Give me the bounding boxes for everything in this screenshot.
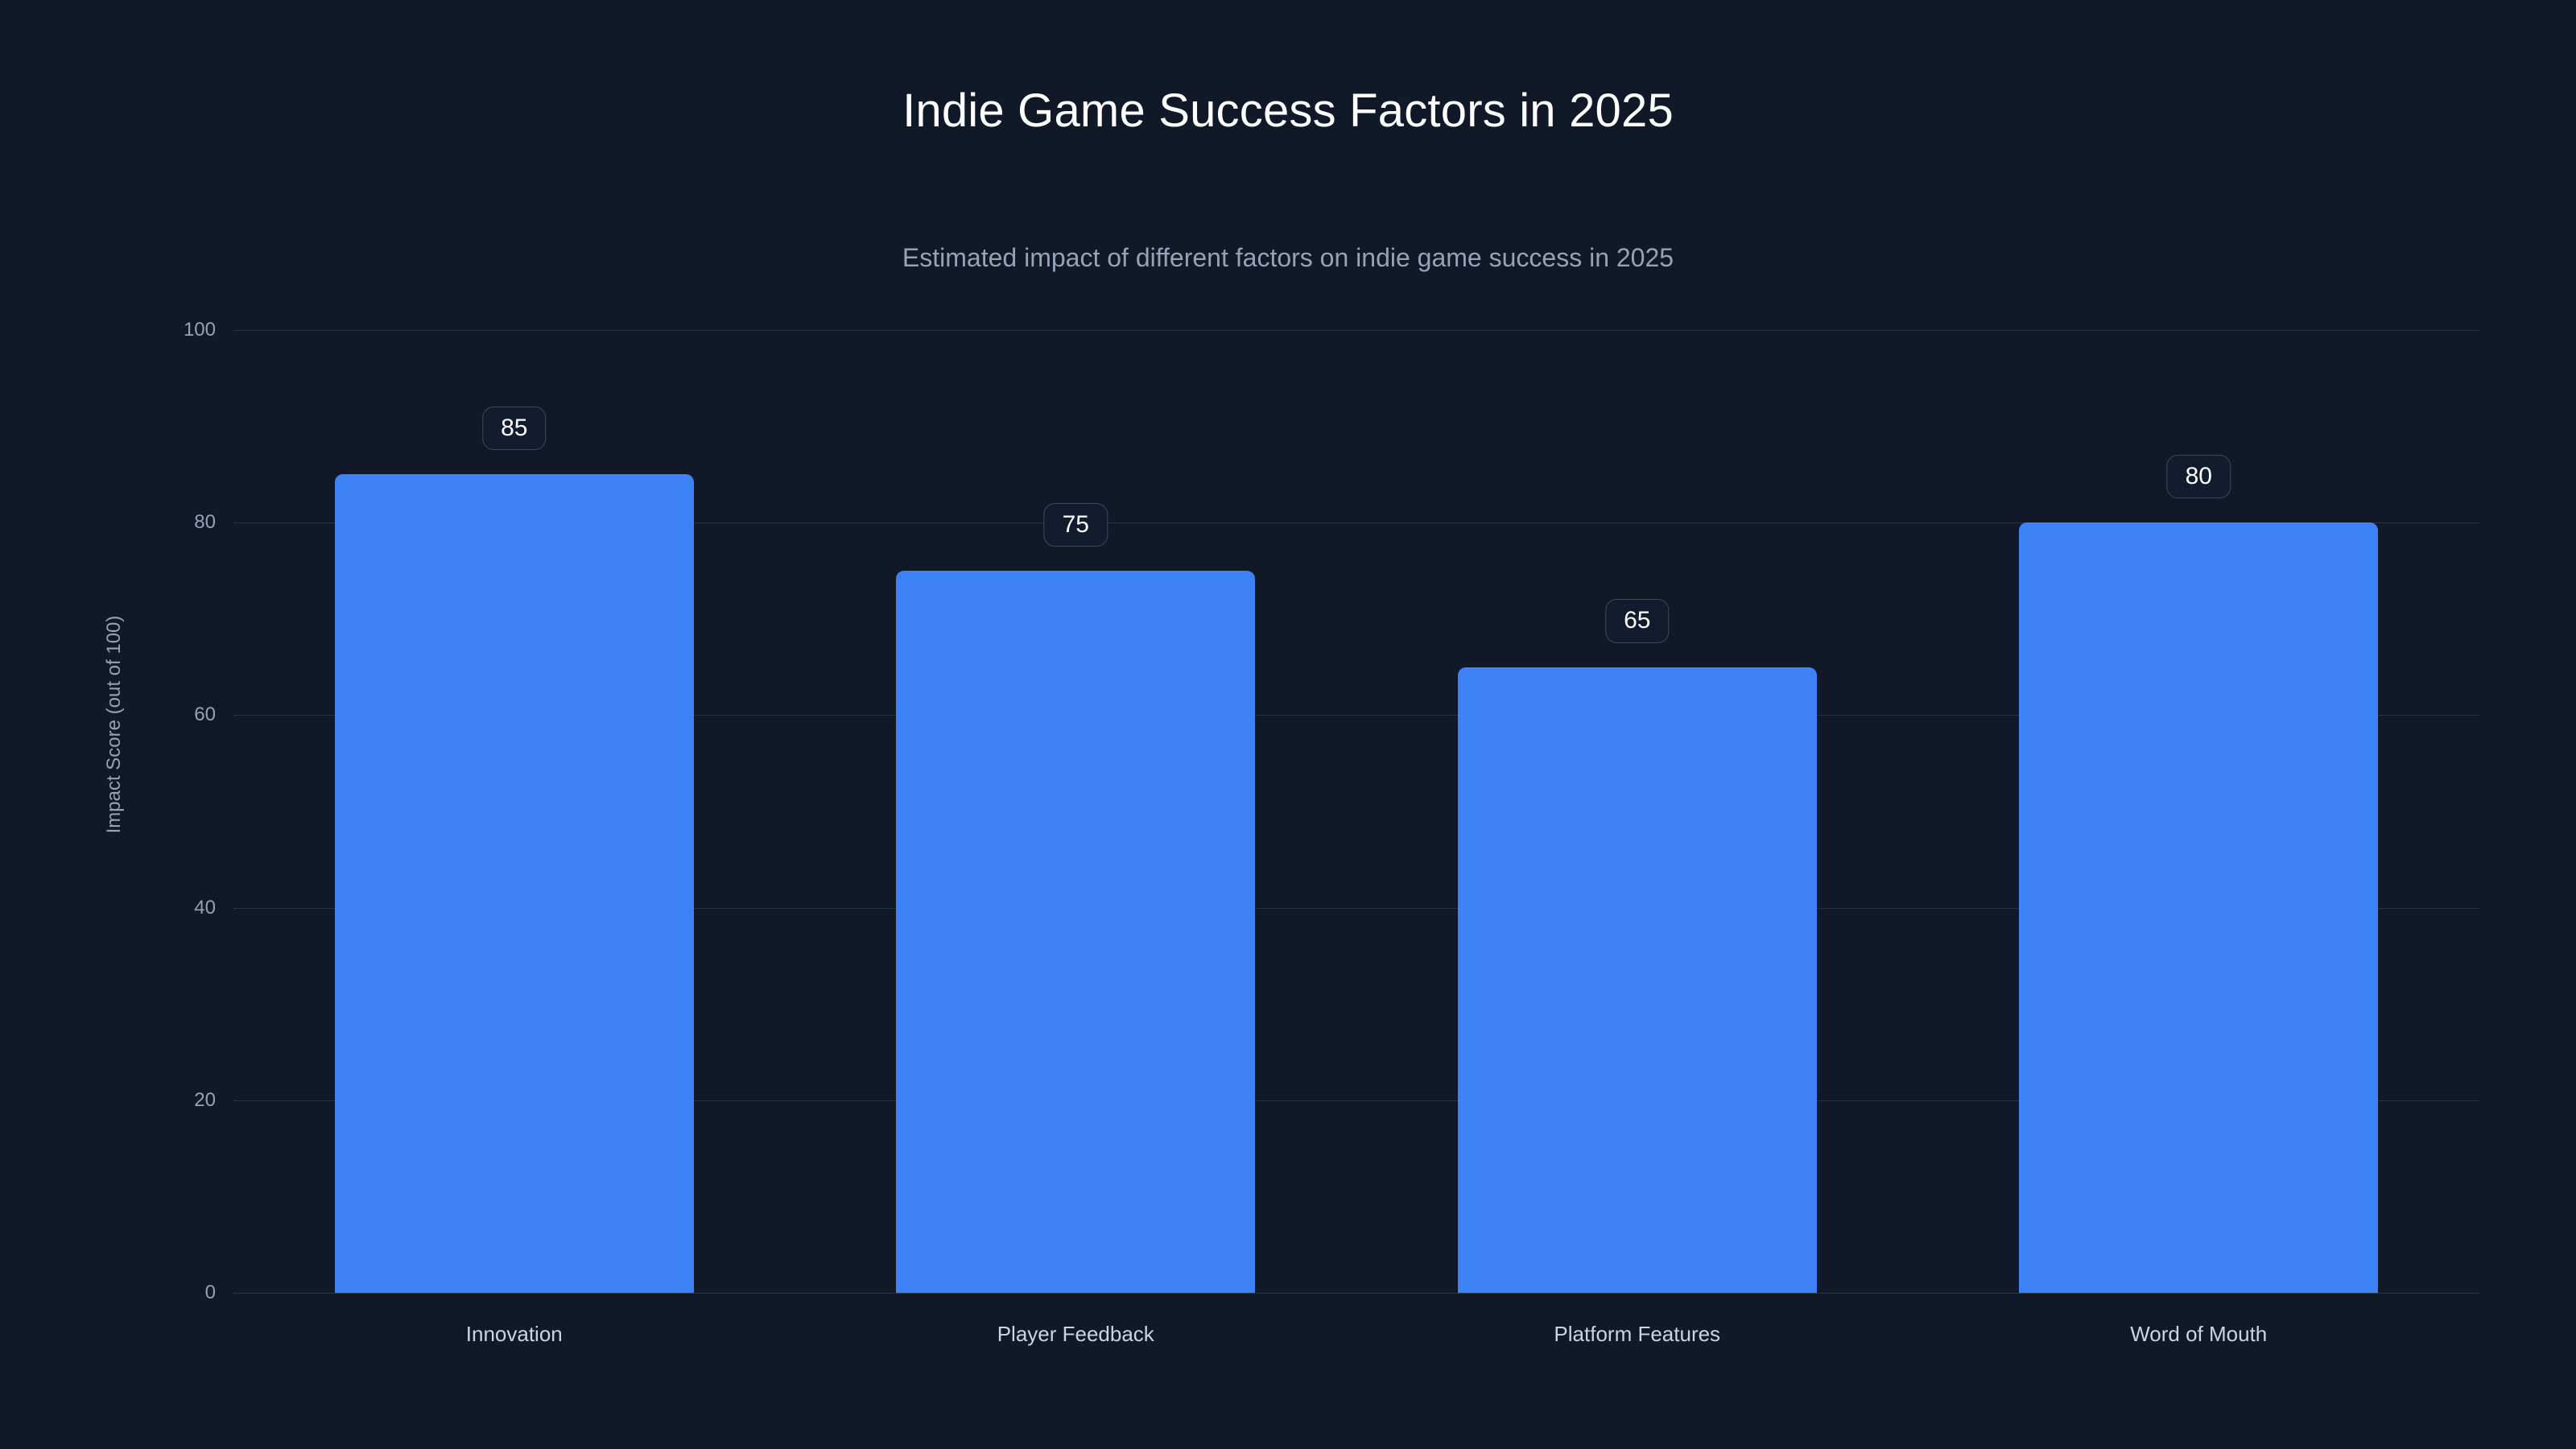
- chart-title: Indie Game Success Factors in 2025: [0, 84, 2576, 138]
- y-axis-tick-label: 40: [119, 897, 216, 919]
- x-axis-tick-label: Word of Mouth: [2130, 1322, 2267, 1347]
- bar-value-badge: 75: [1044, 503, 1108, 547]
- bar-group[interactable]: 65: [1458, 667, 1817, 1293]
- x-axis-tick-label: Innovation: [466, 1322, 563, 1347]
- y-axis-tick-label: 20: [119, 1089, 216, 1112]
- bar-value-badge: 65: [1605, 599, 1669, 643]
- y-axis-tick-label: 60: [119, 704, 216, 726]
- bar-value-badge: 85: [482, 407, 546, 451]
- bar-group[interactable]: 80: [2019, 522, 2378, 1293]
- bar[interactable]: [2019, 522, 2378, 1293]
- bar[interactable]: [896, 571, 1255, 1293]
- plot-area: 100806040200 85756580 InnovationPlayer F…: [233, 330, 2479, 1293]
- x-axis-tick-label: Platform Features: [1554, 1322, 1720, 1347]
- y-axis-tick-label: 0: [119, 1282, 216, 1304]
- bar[interactable]: [335, 474, 694, 1293]
- chart-subtitle: Estimated impact of different factors on…: [0, 243, 2576, 273]
- y-axis-tick-label: 100: [119, 319, 216, 341]
- y-axis-tick-label: 80: [119, 511, 216, 534]
- bar-chart-canvas: Indie Game Success Factors in 2025 Estim…: [0, 0, 2576, 1449]
- bar-group[interactable]: 75: [896, 571, 1255, 1293]
- x-axis-tick-label: Player Feedback: [997, 1322, 1154, 1347]
- bar-value-badge: 80: [2167, 455, 2231, 499]
- gridline: [233, 1293, 2479, 1294]
- bar-group[interactable]: 85: [335, 474, 694, 1293]
- bars-layer: 85756580: [233, 330, 2479, 1293]
- bar[interactable]: [1458, 667, 1817, 1293]
